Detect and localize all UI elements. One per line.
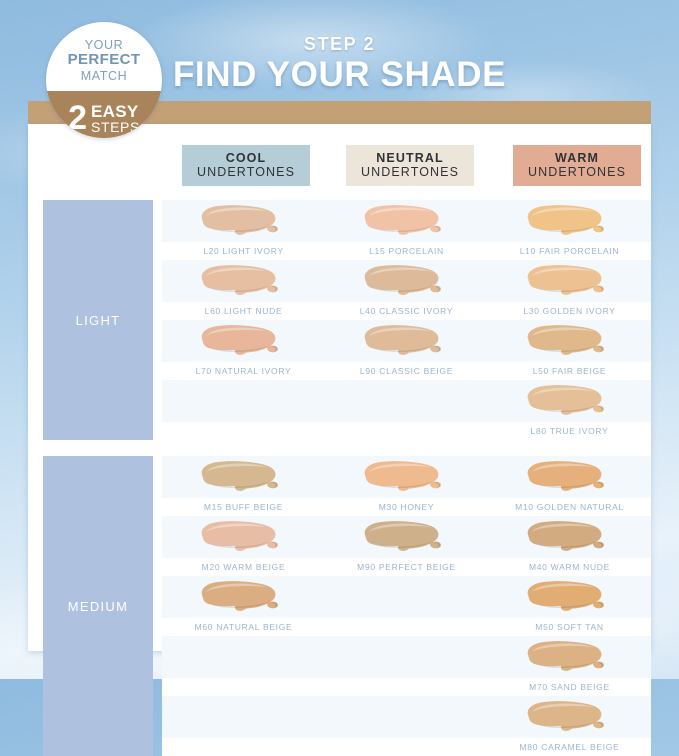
shade-swatch[interactable] [488, 516, 651, 558]
shade-swatch-empty [162, 636, 325, 678]
shade-swatch-empty [325, 636, 488, 678]
foundation-smear-icon [522, 519, 618, 555]
label-row: L60 LIGHT NUDEL40 CLASSIC IVORYL30 GOLDE… [162, 302, 651, 320]
shade-grid: LIGHTL20 LIGHT IVORYL15 PORCELAINL10 FAI… [28, 200, 651, 756]
swatch-row [162, 320, 651, 362]
shade-name-label: M10 GOLDEN NATURAL [488, 498, 651, 516]
shade-swatch-empty [325, 380, 488, 422]
shade-name-label-empty [162, 422, 325, 440]
depth-label-light: LIGHT [43, 200, 153, 440]
foundation-smear-icon [196, 459, 292, 495]
label-row: M70 SAND BEIGE [162, 678, 651, 696]
shade-name-label: M50 SOFT TAN [488, 618, 651, 636]
swatch-row [162, 576, 651, 618]
foundation-smear-icon [522, 383, 618, 419]
shade-swatch[interactable] [488, 260, 651, 302]
perfect-match-badge: YOUR PERFECT MATCH 2 EASY STEPS [46, 22, 162, 138]
badge-lower-text: 2 EASY STEPS [46, 103, 162, 134]
badge-step-words: EASY STEPS [91, 103, 140, 134]
badge-line-3: MATCH [46, 69, 162, 83]
foundation-smear-icon [359, 323, 455, 359]
shade-name-label: L10 FAIR PORCELAIN [488, 242, 651, 260]
shade-swatch[interactable] [325, 200, 488, 242]
undertone-sub-cool: UNDERTONES [197, 166, 295, 180]
undertone-sub-warm: UNDERTONES [528, 166, 626, 180]
swatch-row [162, 260, 651, 302]
undertone-name-cool: COOL [226, 152, 267, 166]
badge-line-1: YOUR [46, 38, 162, 52]
foundation-smear-icon [522, 579, 618, 615]
foundation-smear-icon [359, 459, 455, 495]
shade-name-label: M20 WARM BEIGE [162, 558, 325, 576]
depth-label-text: LIGHT [76, 313, 121, 328]
shade-name-label-empty [162, 738, 325, 756]
shade-swatch[interactable] [488, 320, 651, 362]
foundation-smear-icon [196, 519, 292, 555]
swatch-row [162, 516, 651, 558]
shade-swatch[interactable] [325, 260, 488, 302]
shade-name-label-empty [325, 738, 488, 756]
shade-name-label: M70 SAND BEIGE [488, 678, 651, 696]
shade-card: COOL UNDERTONES NEUTRAL UNDERTONES WARM … [28, 124, 651, 651]
foundation-smear-icon [522, 203, 618, 239]
shade-swatch[interactable] [325, 516, 488, 558]
foundation-smear-icon [522, 263, 618, 299]
shade-name-label: M40 WARM NUDE [488, 558, 651, 576]
undertone-header-row: COOL UNDERTONES NEUTRAL UNDERTONES WARM … [28, 145, 651, 190]
foundation-smear-icon [522, 639, 618, 675]
shade-swatch-empty [162, 380, 325, 422]
shade-swatch[interactable] [325, 320, 488, 362]
shade-name-label: L70 NATURAL IVORY [162, 362, 325, 380]
undertone-header-warm: WARM UNDERTONES [513, 145, 641, 186]
shade-swatch[interactable] [162, 320, 325, 362]
shade-name-label-empty [325, 422, 488, 440]
badge-line-2: PERFECT [46, 52, 162, 69]
undertone-header-neutral: NEUTRAL UNDERTONES [346, 145, 474, 186]
undertone-sub-neutral: UNDERTONES [361, 166, 459, 180]
badge-upper-text: YOUR PERFECT MATCH [46, 38, 162, 83]
shade-name-label: L80 TRUE IVORY [488, 422, 651, 440]
shade-name-label: L50 FAIR BEIGE [488, 362, 651, 380]
shade-swatch[interactable] [488, 636, 651, 678]
depth-label-text: MEDIUM [68, 599, 129, 614]
shade-name-label: M15 BUFF BEIGE [162, 498, 325, 516]
undertone-header-cool: COOL UNDERTONES [182, 145, 310, 186]
shade-swatch[interactable] [488, 380, 651, 422]
shade-swatch[interactable] [325, 456, 488, 498]
shade-rows: L20 LIGHT IVORYL15 PORCELAINL10 FAIR POR… [162, 200, 651, 440]
label-row: M15 BUFF BEIGEM30 HONEYM10 GOLDEN NATURA… [162, 498, 651, 516]
shade-name-label: L60 LIGHT NUDE [162, 302, 325, 320]
badge-word-easy: EASY [91, 103, 139, 120]
shade-swatch[interactable] [162, 260, 325, 302]
shade-swatch-empty [325, 576, 488, 618]
label-row: M80 CARAMEL BEIGE [162, 738, 651, 756]
shade-rows: M15 BUFF BEIGEM30 HONEYM10 GOLDEN NATURA… [162, 456, 651, 756]
shade-name-label-empty [162, 678, 325, 696]
shade-name-label-empty [325, 618, 488, 636]
foundation-smear-icon [522, 699, 618, 735]
shade-swatch[interactable] [488, 576, 651, 618]
foundation-smear-icon [359, 203, 455, 239]
badge-step-number: 2 [68, 103, 87, 134]
shade-group-medium: MEDIUMM15 BUFF BEIGEM30 HONEYM10 GOLDEN … [28, 456, 651, 756]
label-row: L70 NATURAL IVORYL90 CLASSIC BEIGEL50 FA… [162, 362, 651, 380]
shade-name-label: L40 CLASSIC IVORY [325, 302, 488, 320]
shade-name-label: L30 GOLDEN IVORY [488, 302, 651, 320]
label-row: M60 NATURAL BEIGEM50 SOFT TAN [162, 618, 651, 636]
shade-name-label: M60 NATURAL BEIGE [162, 618, 325, 636]
undertone-name-warm: WARM [555, 152, 599, 166]
foundation-smear-icon [522, 459, 618, 495]
shade-swatch[interactable] [162, 200, 325, 242]
depth-label-medium: MEDIUM [43, 456, 153, 756]
shade-swatch[interactable] [162, 576, 325, 618]
label-row: M20 WARM BEIGEM90 PERFECT BEIGEM40 WARM … [162, 558, 651, 576]
shade-swatch[interactable] [162, 456, 325, 498]
shade-swatch-empty [325, 696, 488, 738]
foundation-smear-icon [359, 519, 455, 555]
swatch-row [162, 636, 651, 678]
swatch-row [162, 696, 651, 738]
swatch-row [162, 380, 651, 422]
label-row: L80 TRUE IVORY [162, 422, 651, 440]
shade-name-label-empty [325, 678, 488, 696]
shade-name-label: L90 CLASSIC BEIGE [325, 362, 488, 380]
shade-name-label: M90 PERFECT BEIGE [325, 558, 488, 576]
swatch-row [162, 200, 651, 242]
foundation-smear-icon [196, 263, 292, 299]
shade-swatch[interactable] [162, 516, 325, 558]
foundation-smear-icon [522, 323, 618, 359]
swatch-row [162, 456, 651, 498]
shade-swatch[interactable] [488, 696, 651, 738]
badge-word-steps: STEPS [91, 120, 140, 134]
shade-swatch-empty [162, 696, 325, 738]
shade-name-label: M30 HONEY [325, 498, 488, 516]
foundation-smear-icon [196, 203, 292, 239]
shade-swatch[interactable] [488, 200, 651, 242]
shade-name-label: L15 PORCELAIN [325, 242, 488, 260]
shade-group-light: LIGHTL20 LIGHT IVORYL15 PORCELAINL10 FAI… [28, 200, 651, 440]
shade-name-label: L20 LIGHT IVORY [162, 242, 325, 260]
foundation-smear-icon [196, 323, 292, 359]
label-row: L20 LIGHT IVORYL15 PORCELAINL10 FAIR POR… [162, 242, 651, 260]
shade-swatch[interactable] [488, 456, 651, 498]
foundation-smear-icon [359, 263, 455, 299]
undertone-name-neutral: NEUTRAL [376, 152, 443, 166]
foundation-smear-icon [196, 579, 292, 615]
shade-name-label: M80 CARAMEL BEIGE [488, 738, 651, 756]
